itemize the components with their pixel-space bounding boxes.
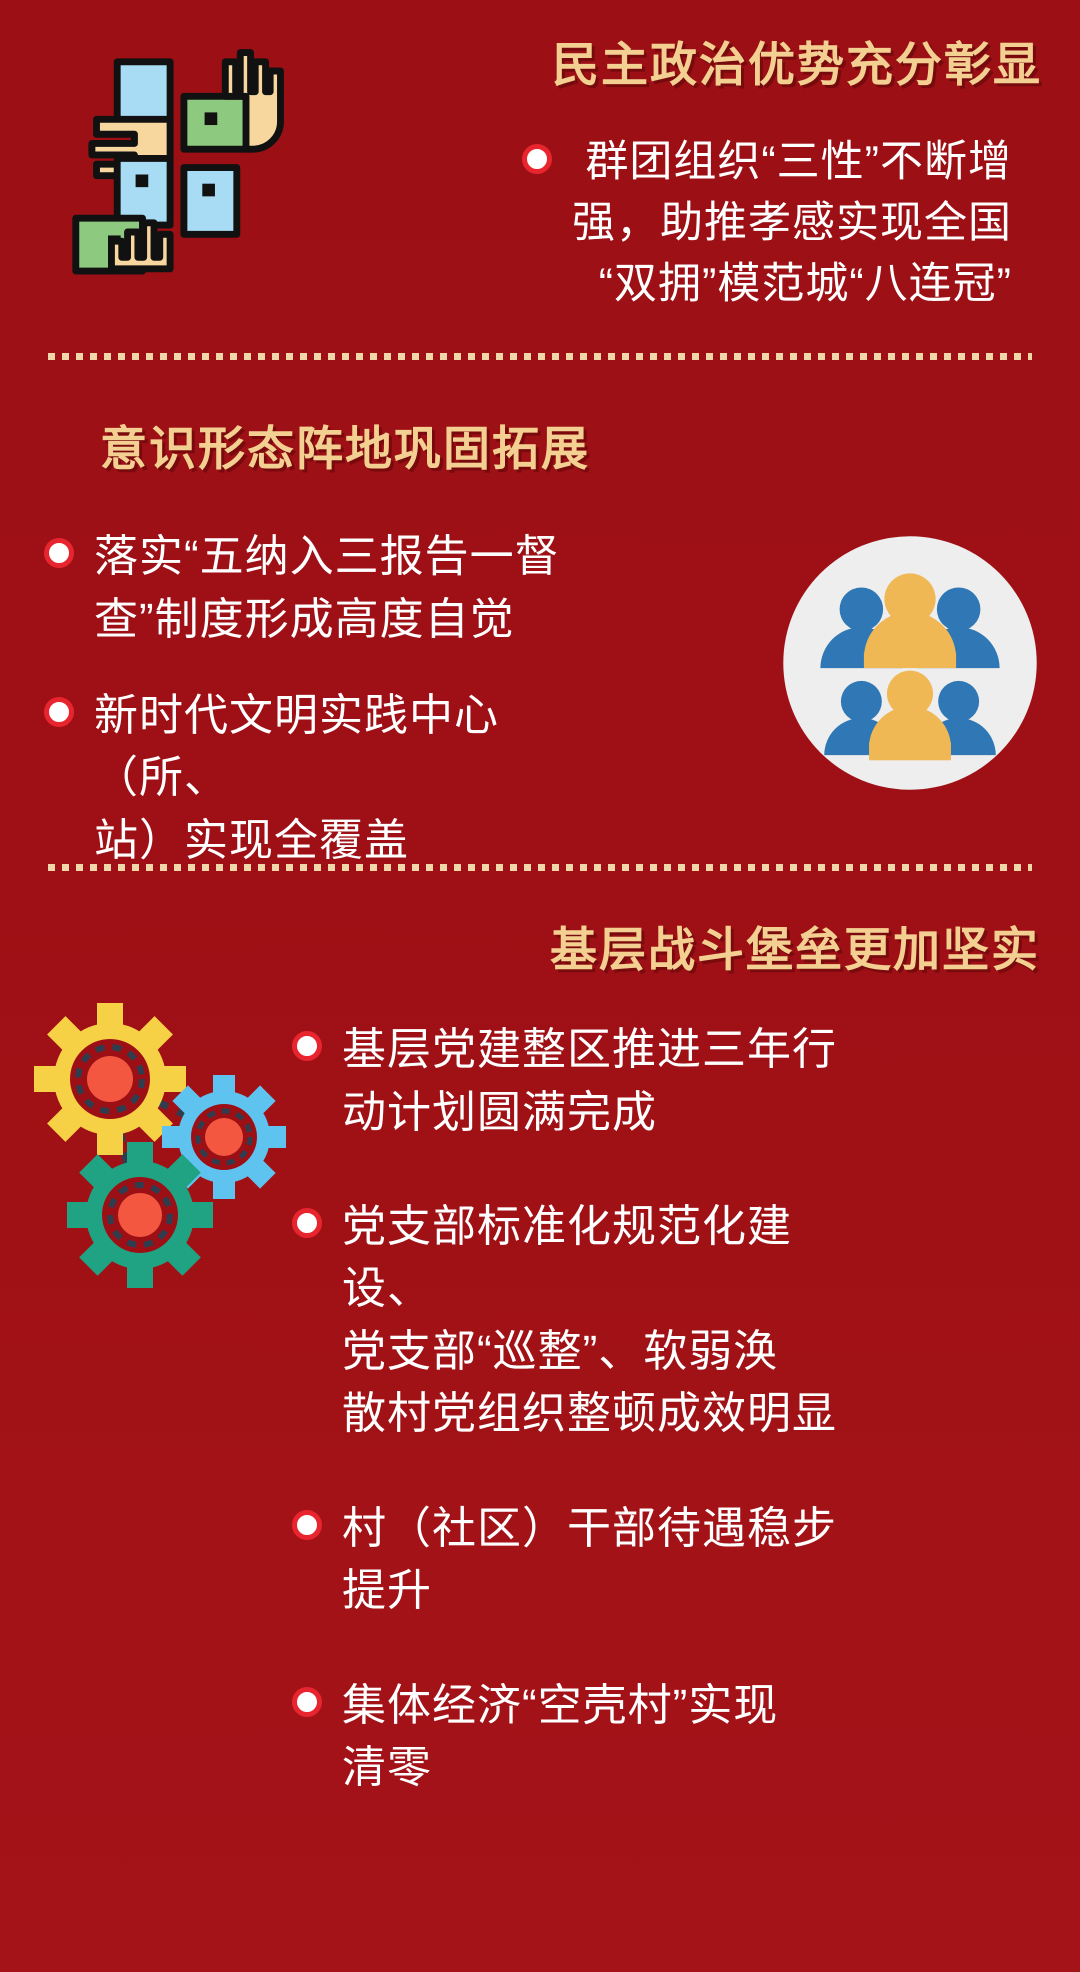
infographic-page: 民主政治优势充分彰显 群团组织“三性”不断增 强，助推孝感实现全国 “双拥”模范… xyxy=(0,0,1080,1972)
section-title: 基层战斗堡垒更加坚实 xyxy=(0,923,1040,977)
bullet-text: 党支部标准化规范化建设、 党支部“巡整”、软弱涣 散村党组织整顿成效明显 xyxy=(342,1196,872,1446)
section-grassroots: 基层战斗堡垒更加坚实 xyxy=(0,871,1080,1911)
bullet-text: 群团组织“三性”不断增 强，助推孝感实现全国 “双拥”模范城“八连冠” xyxy=(572,132,1012,315)
bullet-dot-icon xyxy=(522,144,552,174)
bullet-text: 落实“五纳入三报告一督 查”制度形成高度自觉 xyxy=(94,526,560,651)
people-group-icon xyxy=(782,535,1038,791)
section-ideology: 意识形态阵地巩固拓展 落实“五纳入三报告一督 查”制度形成高度自觉 新时代文明实… xyxy=(0,360,1080,850)
divider-wrapper-1 xyxy=(0,353,1080,360)
bullet-list: 群团组织“三性”不断增 强，助推孝感实现全国 “双拥”模范城“八连冠” xyxy=(522,132,1052,315)
list-item: 群团组织“三性”不断增 强，助推孝感实现全国 “双拥”模范城“八连冠” xyxy=(522,132,1052,315)
list-item: 落实“五纳入三报告一督 查”制度形成高度自觉 xyxy=(44,526,624,651)
bullet-list: 落实“五纳入三报告一督 查”制度形成高度自觉 新时代文明实践中心（所、 站）实现… xyxy=(44,526,624,872)
bullet-dot-icon xyxy=(292,1510,322,1540)
section-title: 民主政治优势充分彰显 xyxy=(552,38,1042,92)
bullet-text: 新时代文明实践中心（所、 站）实现全覆盖 xyxy=(94,685,624,872)
bullet-dot-icon xyxy=(44,538,74,568)
bullet-list: 基层党建整区推进三年行 动计划圆满完成 党支部标准化规范化建设、 党支部“巡整”… xyxy=(292,1019,872,1800)
interlocking-hands-icon xyxy=(62,48,292,278)
list-item: 基层党建整区推进三年行 动计划圆满完成 xyxy=(292,1019,872,1144)
gears-icon xyxy=(18,1001,298,1291)
list-item: 新时代文明实践中心（所、 站）实现全覆盖 xyxy=(44,685,624,872)
dotted-divider xyxy=(48,353,1032,360)
bullet-text: 基层党建整区推进三年行 动计划圆满完成 xyxy=(342,1019,837,1144)
list-item: 集体经济“空壳村”实现 清零 xyxy=(292,1675,872,1800)
list-item: 党支部标准化规范化建设、 党支部“巡整”、软弱涣 散村党组织整顿成效明显 xyxy=(292,1196,872,1446)
bullet-dot-icon xyxy=(44,697,74,727)
section-title: 意识形态阵地巩固拓展 xyxy=(100,422,1080,476)
bullet-text: 村（社区）干部待遇稳步 提升 xyxy=(342,1498,837,1623)
bullet-text: 集体经济“空壳村”实现 清零 xyxy=(342,1675,778,1800)
bullet-dot-icon xyxy=(292,1687,322,1717)
section-democracy: 民主政治优势充分彰显 群团组织“三性”不断增 强，助推孝感实现全国 “双拥”模范… xyxy=(0,0,1080,345)
list-item: 村（社区）干部待遇稳步 提升 xyxy=(292,1498,872,1623)
